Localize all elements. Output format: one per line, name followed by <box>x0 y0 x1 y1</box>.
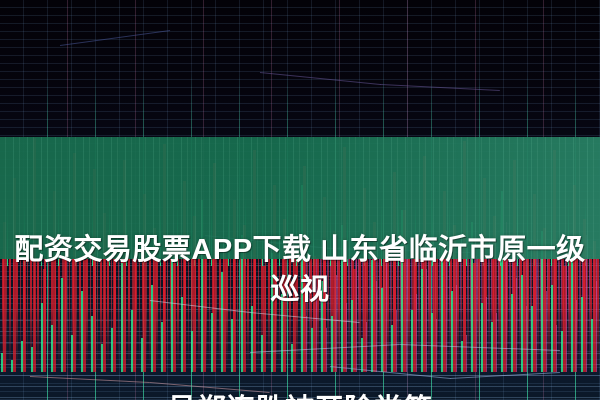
trend-line-segment <box>260 72 380 85</box>
headline-line-2: 员郑连胜被开除党籍 <box>0 390 600 400</box>
trend-line-segment <box>380 84 500 91</box>
chart-banner: 配资交易股票APP下载 山东省临沂市原一级巡视 员郑连胜被开除党籍 <box>0 0 600 400</box>
headline-line-1: 配资交易股票APP下载 山东省临沂市原一级巡视 <box>0 230 600 310</box>
headline-text: 配资交易股票APP下载 山东省临沂市原一级巡视 员郑连胜被开除党籍 <box>0 150 600 400</box>
trend-line-segment <box>60 30 170 46</box>
